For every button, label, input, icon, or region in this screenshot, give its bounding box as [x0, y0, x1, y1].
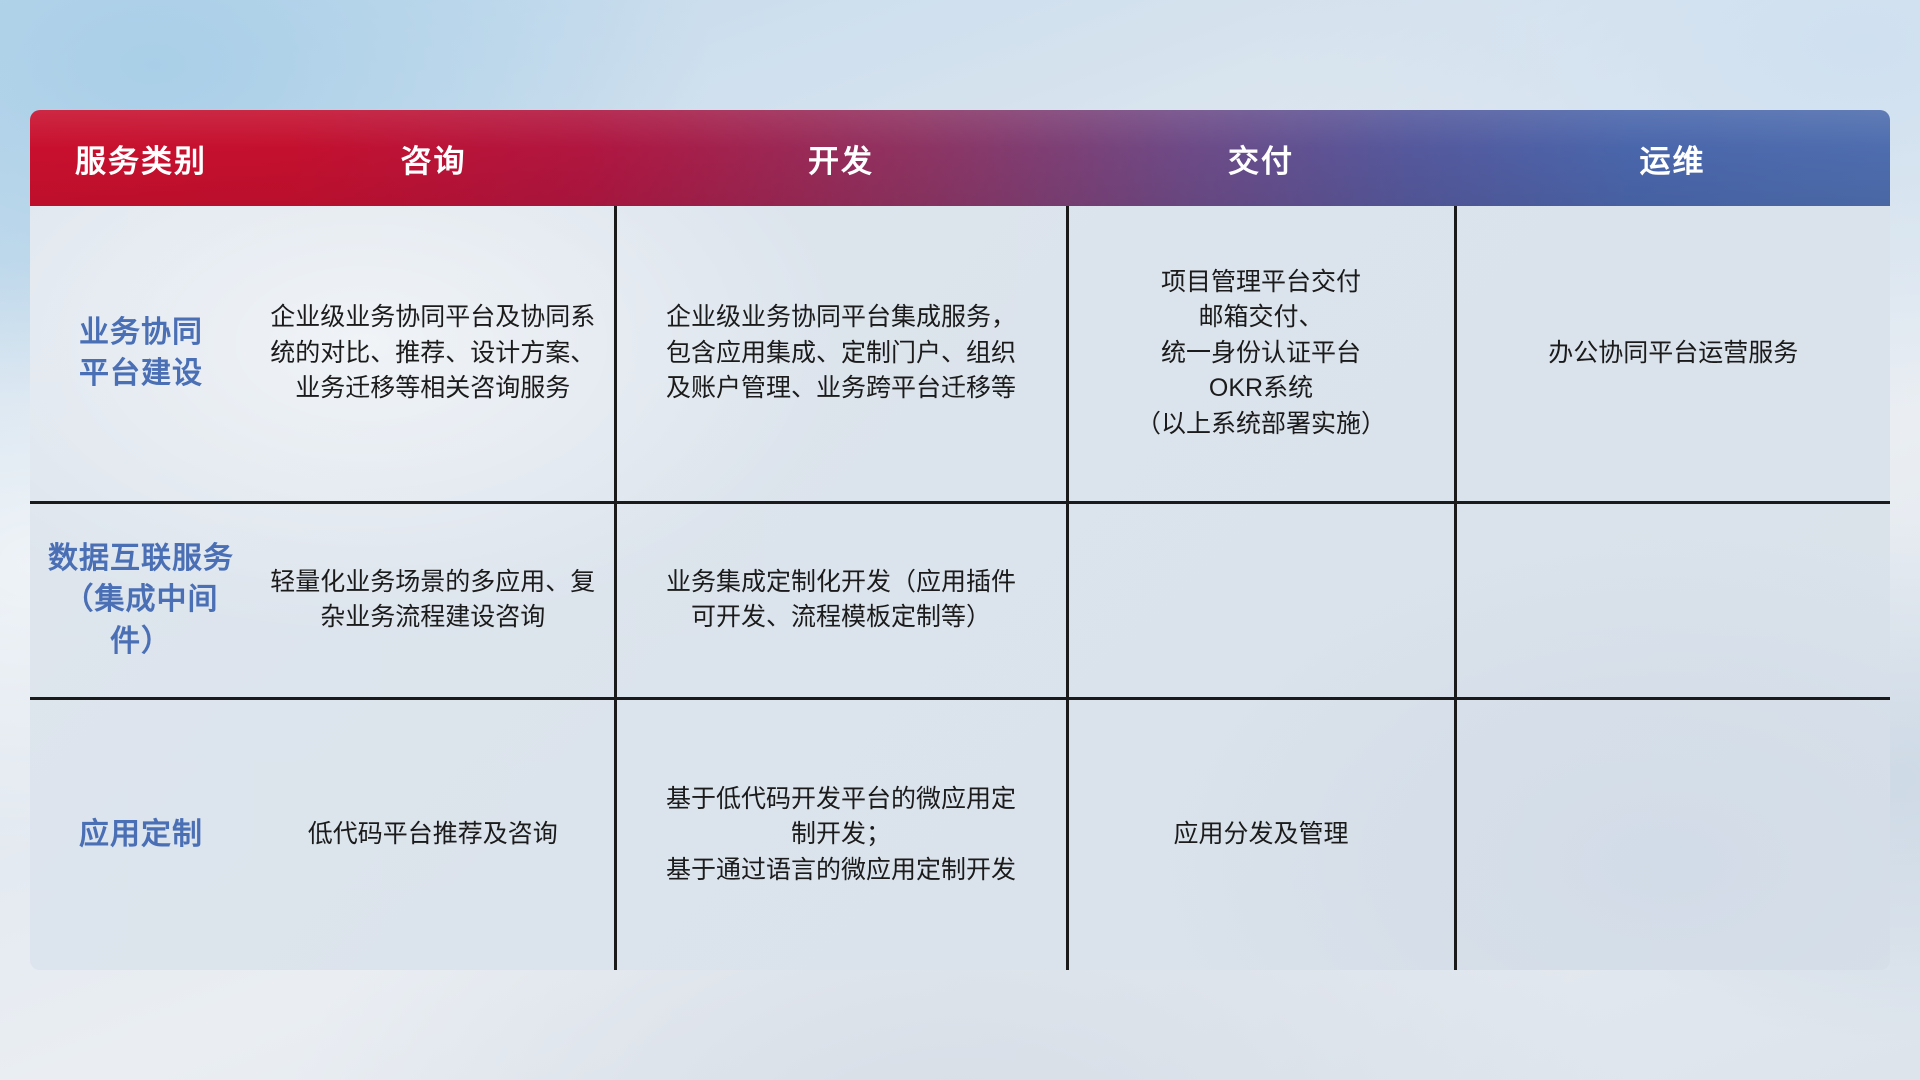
cell-category-row3: 应用定制: [30, 698, 252, 970]
cell-delivery-row3: 应用分发及管理: [1067, 698, 1455, 970]
cell-text-development-row3: 基于低代码开发平台的微应用定 制开发； 基于通过语言的微应用定制开发: [635, 782, 1048, 889]
header-cell-delivery: 交付: [1067, 110, 1455, 206]
cell-operations-row1: 办公协同平台运营服务: [1455, 206, 1890, 502]
cell-consulting-row2: 轻量化业务场景的多应用、复 杂业务流程建设咨询: [252, 502, 615, 698]
header-label-consulting: 咨询: [401, 144, 467, 179]
cell-operations-row2: [1455, 502, 1890, 698]
cell-text-consulting-row3: 低代码平台推荐及咨询: [270, 817, 596, 853]
table-row: 数据互联服务 （集成中间件） 轻量化业务场景的多应用、复 杂业务流程建设咨询 业…: [30, 502, 1890, 698]
table-header-row: 服务类别 咨询 开发 交付 运维: [30, 110, 1890, 206]
header-label-development: 开发: [808, 144, 874, 179]
category-label-row3: 应用定制: [48, 814, 234, 855]
service-matrix-table: 服务类别 咨询 开发 交付 运维 业务协同 平台建设: [30, 110, 1890, 970]
cell-consulting-row3: 低代码平台推荐及咨询: [252, 698, 615, 970]
header-cell-service-category: 服务类别: [30, 110, 252, 206]
header-cell-operations: 运维: [1455, 110, 1890, 206]
table-row: 应用定制 低代码平台推荐及咨询 基于低代码开发平台的微应用定 制开发； 基于通过…: [30, 698, 1890, 970]
cell-delivery-row2: [1067, 502, 1455, 698]
cell-category-row1: 业务协同 平台建设: [30, 206, 252, 502]
cell-text-delivery-row3: 应用分发及管理: [1087, 817, 1436, 853]
category-label-row1: 业务协同 平台建设: [48, 312, 234, 395]
cell-development-row3: 基于低代码开发平台的微应用定 制开发； 基于通过语言的微应用定制开发: [615, 698, 1067, 970]
header-label-operations: 运维: [1640, 144, 1706, 179]
cell-text-development-row2: 业务集成定制化开发（应用插件 可开发、流程模板定制等）: [635, 565, 1048, 636]
cell-category-row2: 数据互联服务 （集成中间件）: [30, 502, 252, 698]
service-matrix-table-wrapper: 服务类别 咨询 开发 交付 运维 业务协同 平台建设: [30, 110, 1890, 970]
cell-consulting-row1: 企业级业务协同平台及协同系 统的对比、推荐、设计方案、 业务迁移等相关咨询服务: [252, 206, 615, 502]
header-cell-consulting: 咨询: [252, 110, 615, 206]
header-label-service-category: 服务类别: [75, 144, 207, 179]
table-header: 服务类别 咨询 开发 交付 运维: [30, 110, 1890, 206]
cell-delivery-row1: 项目管理平台交付 邮箱交付、 统一身份认证平台 OKR系统 （以上系统部署实施）: [1067, 206, 1455, 502]
cell-operations-row3: [1455, 698, 1890, 970]
cell-development-row2: 业务集成定制化开发（应用插件 可开发、流程模板定制等）: [615, 502, 1067, 698]
cell-text-consulting-row1: 企业级业务协同平台及协同系 统的对比、推荐、设计方案、 业务迁移等相关咨询服务: [270, 300, 596, 407]
cell-text-development-row1: 企业级业务协同平台集成服务， 包含应用集成、定制门户、组织 及账户管理、业务跨平…: [635, 300, 1048, 407]
category-label-row2: 数据互联服务 （集成中间件）: [48, 538, 234, 662]
table-row: 业务协同 平台建设 企业级业务协同平台及协同系 统的对比、推荐、设计方案、 业务…: [30, 206, 1890, 502]
table-body: 业务协同 平台建设 企业级业务协同平台及协同系 统的对比、推荐、设计方案、 业务…: [30, 206, 1890, 970]
header-cell-development: 开发: [615, 110, 1067, 206]
header-label-delivery: 交付: [1228, 144, 1294, 179]
cell-development-row1: 企业级业务协同平台集成服务， 包含应用集成、定制门户、组织 及账户管理、业务跨平…: [615, 206, 1067, 502]
cell-text-consulting-row2: 轻量化业务场景的多应用、复 杂业务流程建设咨询: [270, 565, 596, 636]
cell-text-delivery-row1: 项目管理平台交付 邮箱交付、 统一身份认证平台 OKR系统 （以上系统部署实施）: [1087, 265, 1436, 443]
cell-text-operations-row1: 办公协同平台运营服务: [1475, 336, 1873, 372]
